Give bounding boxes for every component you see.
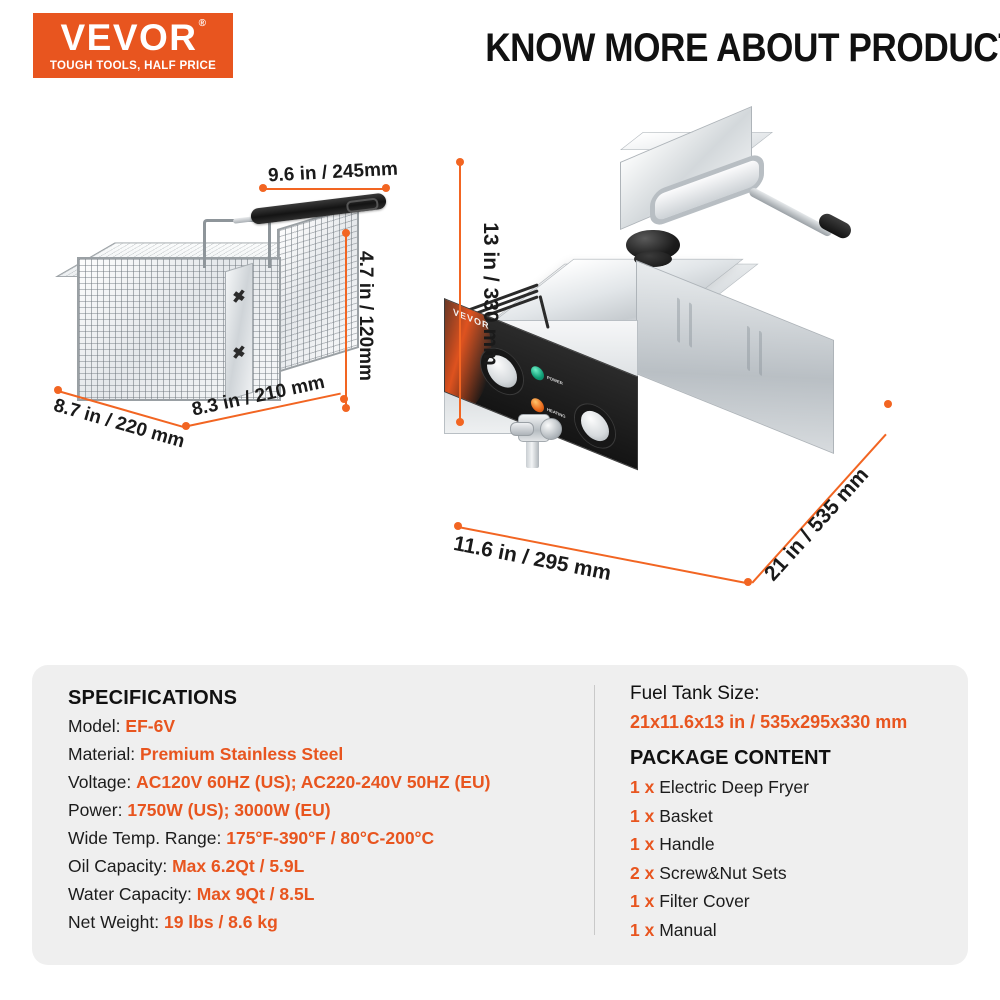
package-item-qty: 1 x <box>630 806 659 826</box>
spec-row: Model: EF-6V <box>68 718 580 736</box>
dimension-label-basket-handle: 9.6 in / 245mm <box>268 159 399 188</box>
package-item-qty: 1 x <box>630 920 659 940</box>
package-item-label: Screw&Nut Sets <box>659 863 786 883</box>
page-title: KNOW MORE ABOUT PRODUCT <box>485 26 978 71</box>
product-illustration-area: ✖ ✖ 9.6 in / 245mm 4.7 in / 120mm 8.7 in… <box>0 100 1000 640</box>
page-header: VEVOR® TOUGH TOOLS, HALF PRICE KNOW MORE… <box>0 0 1000 100</box>
spec-row-key: Net Weight: <box>68 912 164 932</box>
dimline-dot <box>884 400 892 408</box>
package-item-qty: 1 x <box>630 834 659 854</box>
dimline-dot <box>382 184 390 192</box>
spec-row: Net Weight: 19 lbs / 8.6 kg <box>68 914 580 932</box>
spec-row-value: Premium Stainless Steel <box>140 744 343 764</box>
specifications-panel: SPECIFICATIONS Model: EF-6VMaterial: Pre… <box>32 665 968 965</box>
spec-row-key: Oil Capacity: <box>68 856 172 876</box>
screw-x-icon: ✖ <box>231 288 247 309</box>
basket-divider-plate: ✖ ✖ <box>225 263 253 402</box>
dimline-dot <box>342 404 350 412</box>
valve-spout <box>526 438 539 468</box>
dimline-dot <box>259 184 267 192</box>
spec-row-value: EF-6V <box>125 716 175 736</box>
spec-row-value: 1750W (US); 3000W (EU) <box>127 800 330 820</box>
logo-tagline: TOUGH TOOLS, HALF PRICE <box>50 60 216 72</box>
power-indicator-label: POWER <box>547 375 563 386</box>
package-item: 2 x Screw&Nut Sets <box>630 865 950 883</box>
package-item-qty: 2 x <box>630 863 659 883</box>
vevor-logo: VEVOR® TOUGH TOOLS, HALF PRICE <box>33 13 233 78</box>
fryer-drain-valve[interactable] <box>512 410 552 474</box>
spec-row: Water Capacity: Max 9Qt / 8.5L <box>68 886 580 904</box>
dimline-dot <box>54 386 62 394</box>
package-item-label: Manual <box>659 920 716 940</box>
package-item-label: Filter Cover <box>659 891 749 911</box>
fryer-lid-knob <box>626 230 680 260</box>
valve-lever[interactable] <box>510 422 534 436</box>
fuel-tank-size-value: 21x11.6x13 in / 535x295x330 mm <box>630 712 950 733</box>
dimline-dot <box>454 522 462 530</box>
spec-row: Wide Temp. Range: 175°F-390°F / 80°C-200… <box>68 830 580 848</box>
spec-row-key: Wide Temp. Range: <box>68 828 226 848</box>
power-indicator-light <box>531 364 544 382</box>
spec-row-key: Water Capacity: <box>68 884 197 904</box>
package-content-list: 1 x Electric Deep Fryer1 x Basket1 x Han… <box>630 779 950 939</box>
spec-row: Voltage: AC120V 60HZ (US); AC220-240V 50… <box>68 774 580 792</box>
package-item-label: Electric Deep Fryer <box>659 777 809 797</box>
registered-trademark-icon: ® <box>199 19 208 29</box>
spec-row-key: Model: <box>68 716 125 736</box>
specifications-title: SPECIFICATIONS <box>68 687 580 710</box>
fryer-rod-grip <box>816 211 854 241</box>
specifications-column: SPECIFICATIONS Model: EF-6VMaterial: Pre… <box>68 687 580 942</box>
package-item-label: Handle <box>659 834 714 854</box>
package-item: 1 x Electric Deep Fryer <box>630 779 950 797</box>
dimline-dot <box>340 395 348 403</box>
spec-row: Power: 1750W (US); 3000W (EU) <box>68 802 580 820</box>
package-item: 1 x Manual <box>630 922 950 940</box>
spec-row-key: Power: <box>68 800 127 820</box>
screw-x-icon: ✖ <box>231 344 247 365</box>
dimline-fryer-height <box>459 162 461 422</box>
package-content-title: PACKAGE CONTENT <box>630 747 950 770</box>
package-item: 1 x Filter Cover <box>630 893 950 911</box>
spec-row-value: 175°F-390°F / 80°C-200°C <box>226 828 434 848</box>
panel-divider <box>594 685 595 935</box>
package-item-qty: 1 x <box>630 777 659 797</box>
spec-row-value: 19 lbs / 8.6 kg <box>164 912 278 932</box>
spec-row-key: Material: <box>68 744 140 764</box>
spec-row-value: Max 6.2Qt / 5.9L <box>172 856 304 876</box>
specifications-list: Model: EF-6VMaterial: Premium Stainless … <box>68 718 580 932</box>
package-item: 1 x Basket <box>630 808 950 826</box>
fuel-tank-size-label: Fuel Tank Size: <box>630 683 950 705</box>
logo-wordmark: VEVOR® <box>60 19 205 56</box>
spec-row-key: Voltage: <box>68 772 136 792</box>
package-item: 1 x Handle <box>630 836 950 854</box>
spec-row-value: Max 9Qt / 8.5L <box>197 884 315 904</box>
dimline-basket-handle <box>263 188 386 190</box>
dimline-dot <box>456 158 464 166</box>
dimline-basket-height <box>345 233 347 408</box>
dimension-label-basket-height: 4.7 in / 120mm <box>354 251 376 381</box>
package-item-qty: 1 x <box>630 891 659 911</box>
logo-word-text: VEVOR <box>60 17 197 58</box>
fryer-rod-handle <box>748 187 833 238</box>
dimension-label-fryer-height: 13 in / 330 mm <box>478 222 502 366</box>
spec-row: Oil Capacity: Max 6.2Qt / 5.9L <box>68 858 580 876</box>
product-info-page: VEVOR® TOUGH TOOLS, HALF PRICE KNOW MORE… <box>0 0 1000 1000</box>
package-column: Fuel Tank Size: 21x11.6x13 in / 535x295x… <box>630 683 950 950</box>
dimline-dot <box>456 418 464 426</box>
fryer-right-panel <box>636 260 834 454</box>
valve-wheel[interactable] <box>540 418 562 440</box>
spec-row: Material: Premium Stainless Steel <box>68 746 580 764</box>
package-item-label: Basket <box>659 806 713 826</box>
timer-knob[interactable] <box>575 398 615 454</box>
spec-row-value: AC120V 60HZ (US); AC220-240V 50HZ (EU) <box>136 772 490 792</box>
dimline-dot <box>342 229 350 237</box>
basket-handle-bracket <box>203 219 271 268</box>
